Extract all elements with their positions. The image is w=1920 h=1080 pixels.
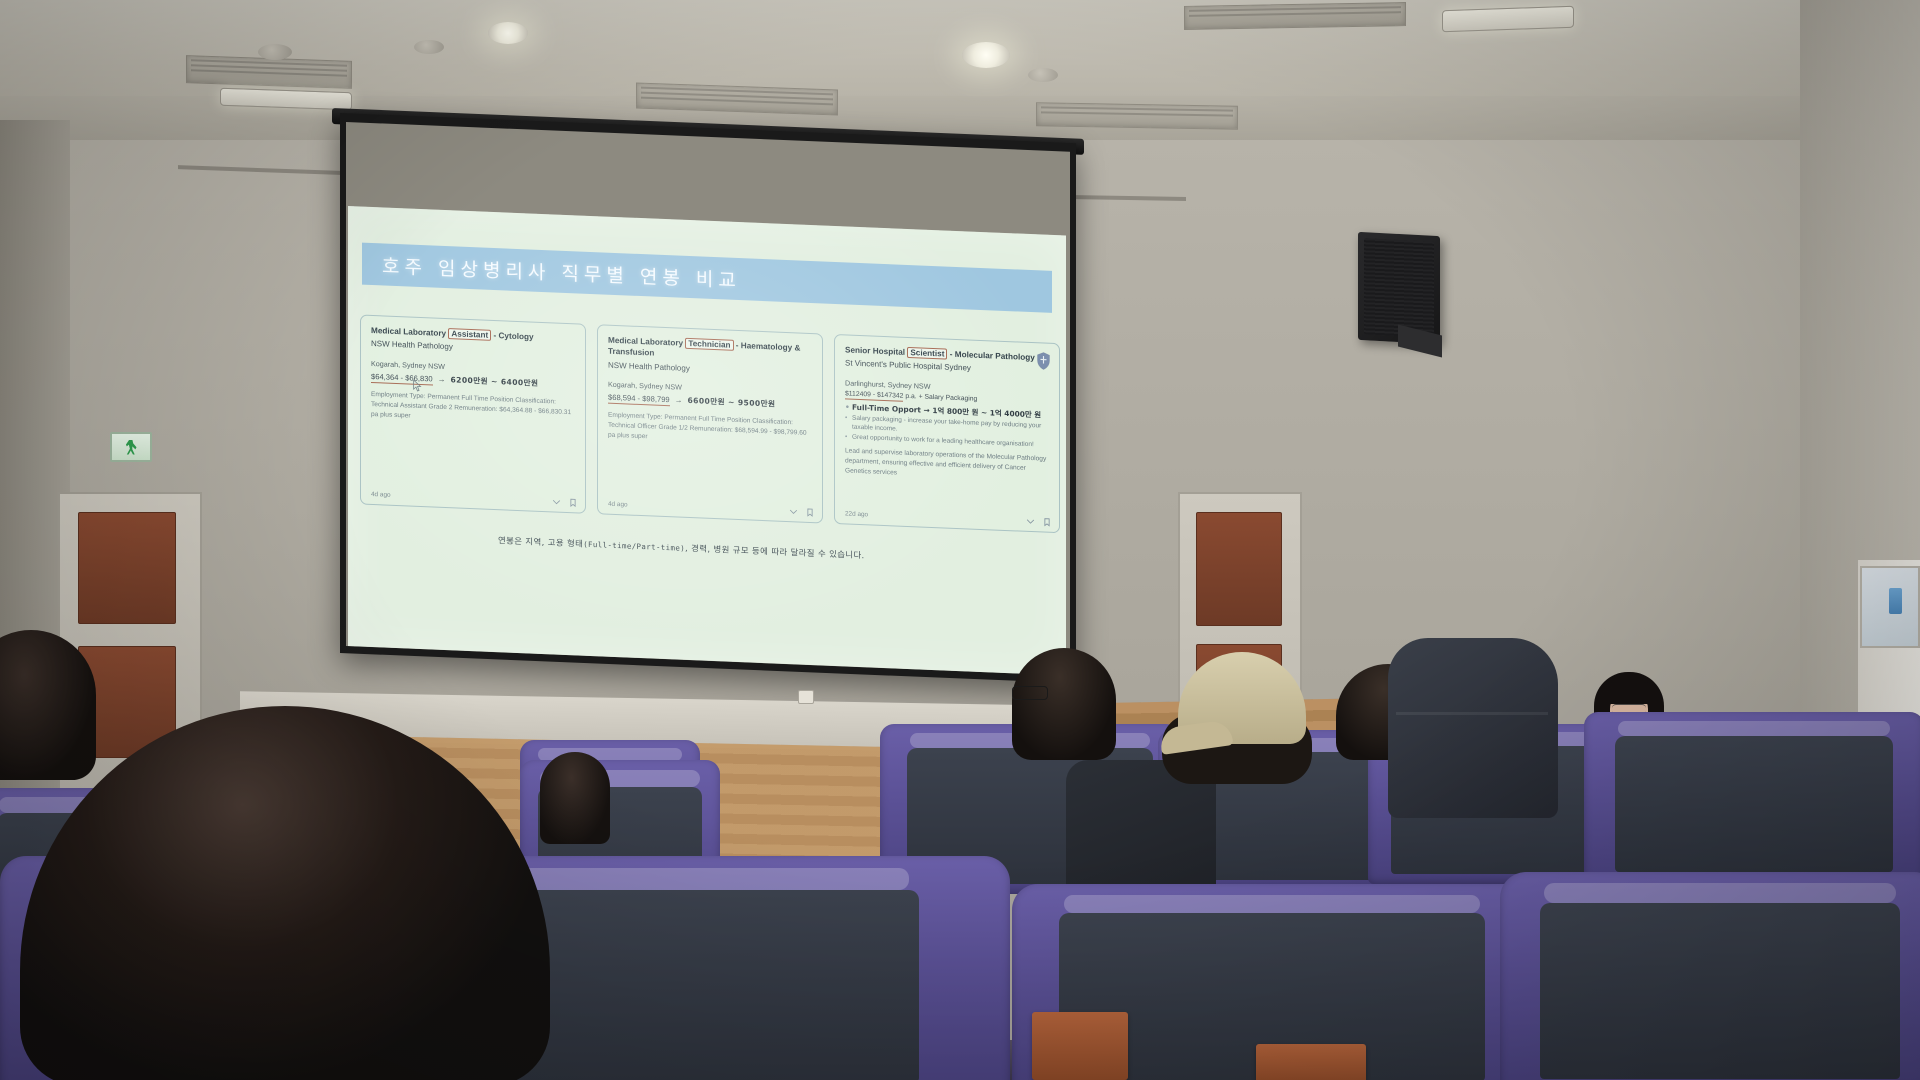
audience-head (540, 752, 610, 844)
slide-footnote: 연봉은 지역, 고용 형태(Full-time/Part-time), 경력, … (498, 534, 968, 567)
job-bullet-0-text: Full-Time Opport (852, 403, 921, 415)
job-title-post: - Cytology (491, 331, 533, 342)
job-card[interactable]: Medical Laboratory Assistant - Cytology … (360, 314, 586, 513)
presenter-fringe (1596, 682, 1662, 704)
mouse-cursor-icon (413, 380, 422, 392)
slide-footnote-mono: (Full-time/Part-time) (583, 540, 685, 553)
water-bottle (1889, 588, 1902, 614)
bookmark-icon[interactable] (570, 498, 576, 507)
job-pay-source: $64,364 - $66,830 (371, 372, 433, 386)
chevron-down-icon[interactable] (789, 509, 798, 514)
job-title-pre: Medical Laboratory (371, 326, 448, 338)
audience-puffer-jacket (1388, 638, 1558, 818)
ceiling-air-vent (1184, 2, 1406, 30)
ceiling-air-vent (1036, 102, 1238, 130)
emergency-exit-sign (110, 432, 152, 462)
job-title-highlight: Technician (685, 338, 733, 351)
job-posted-time: 4d ago (371, 491, 391, 499)
job-posted-time: 4d ago (608, 501, 628, 509)
job-card-footer: 4d ago (608, 500, 813, 517)
job-pay-source: $112409 - $147342 (845, 391, 903, 402)
seat-tray-table (1032, 1012, 1128, 1080)
arrow-icon: → (438, 375, 446, 384)
job-posted-time: 22d ago (845, 510, 868, 518)
job-title-pre: Senior Hospital (845, 345, 907, 357)
smoke-detector (1028, 68, 1058, 82)
speaker-grille (1364, 238, 1434, 338)
job-card-list: Medical Laboratory Assistant - Cytology … (360, 314, 1060, 533)
bookmark-icon[interactable] (807, 508, 813, 517)
job-title-highlight: Assistant (448, 328, 491, 341)
audience-head (1012, 648, 1116, 760)
job-card-actions (1026, 517, 1050, 527)
smoke-detector (258, 44, 292, 60)
job-card[interactable]: Medical Laboratory Technician - Haematol… (597, 324, 823, 523)
right-door-panel-upper (1196, 512, 1282, 626)
projected-slide: 호주 임상병리사 직무별 연봉 비교 Medical Laboratory As… (348, 206, 1066, 675)
slide-footnote-part1: 연봉은 지역, 고용 형태 (498, 535, 583, 548)
job-pay-krw: 6600만원 ~ 9500만원 (688, 396, 776, 409)
seat-tray-table (1256, 1044, 1366, 1080)
job-card-actions (552, 497, 576, 507)
slide-title-bar: 호주 임상병리사 직무별 연봉 비교 (362, 243, 1052, 313)
job-pay-krw: 6200만원 ~ 6400만원 (451, 375, 539, 388)
smoke-detector (414, 40, 444, 54)
audience-seat-front (1500, 872, 1920, 1080)
ceiling-light-fixture (1442, 6, 1574, 33)
job-pay-source: $68,594 - $98,799 (608, 393, 670, 407)
job-description: Employment Type: Permanent Full Time Pos… (608, 411, 812, 449)
wall-power-outlet (798, 690, 814, 704)
job-card-actions (789, 507, 813, 517)
exit-running-man-icon (126, 440, 137, 455)
audience-seat (1584, 712, 1920, 882)
arrow-icon: → (675, 396, 683, 405)
job-card-footer: 22d ago (845, 509, 1050, 526)
ceiling-air-vent (186, 55, 352, 89)
jacket-seam (1396, 712, 1548, 715)
ceiling-downlight (962, 42, 1010, 68)
job-title-highlight: Scientist (907, 347, 947, 360)
slide-title: 호주 임상병리사 직무별 연봉 비교 (382, 251, 741, 293)
job-card[interactable]: Senior Hospital Scientist - Molecular Pa… (834, 334, 1060, 533)
bookmark-icon[interactable] (1044, 518, 1050, 527)
job-bullet-list: Full-Time Opport → 1억 800만 원 ~ 1억 4000만 … (845, 403, 1049, 450)
job-title-pre: Medical Laboratory (608, 336, 685, 348)
left-door-panel-upper (78, 512, 176, 624)
slide-footnote-part2: , 경력, 병원 규모 등에 따라 달라질 수 있습니다. (685, 543, 865, 560)
job-description: Lead and supervise laboratory operations… (845, 447, 1049, 485)
audience-glasses (1012, 686, 1048, 700)
chevron-down-icon[interactable] (1026, 519, 1035, 524)
job-pay-suffix: p.a. + Salary Packaging (903, 393, 977, 403)
hospital-crest-icon (1036, 351, 1051, 371)
job-card-footer: 4d ago (371, 490, 576, 507)
ceiling-downlight (488, 22, 528, 44)
chevron-down-icon[interactable] (552, 499, 561, 504)
job-description: Employment Type: Permanent Full Time Pos… (371, 390, 575, 428)
arrow-icon: → (924, 406, 930, 415)
lecture-hall-photo: 호주 임상병리사 직무별 연봉 비교 Medical Laboratory As… (0, 0, 1920, 1080)
job-title-post: - Molecular Pathology (947, 350, 1034, 363)
